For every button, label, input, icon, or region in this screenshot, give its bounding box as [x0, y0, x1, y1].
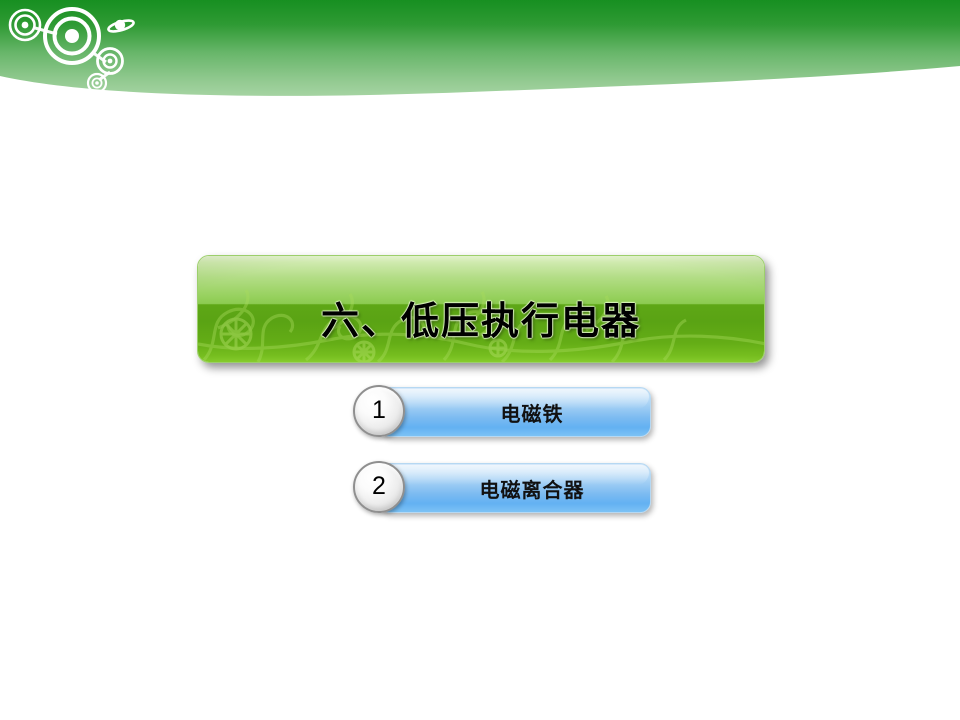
concentric-circles-icon [10, 10, 40, 40]
list-item[interactable]: 电磁离合器 2 [347, 461, 637, 517]
item-number-badge[interactable]: 2 [353, 461, 405, 513]
item-number-label: 1 [372, 398, 386, 425]
item-label: 电磁离合器 [379, 463, 651, 513]
item-number-badge[interactable]: 1 [353, 385, 405, 437]
item-number-label: 2 [372, 474, 386, 501]
item-label: 电磁铁 [379, 387, 651, 437]
list-item[interactable]: 电磁铁 1 [347, 385, 637, 441]
page-title: 六、低压执行电器 [198, 256, 764, 363]
concentric-circles-icon [45, 9, 99, 63]
header-band-graphic [0, 0, 960, 110]
header-band [0, 0, 960, 110]
title-banner: 六、低压执行电器 [197, 255, 765, 363]
slide-canvas: 六、低压执行电器 电磁铁 1 电磁离合器 2 [0, 0, 960, 720]
